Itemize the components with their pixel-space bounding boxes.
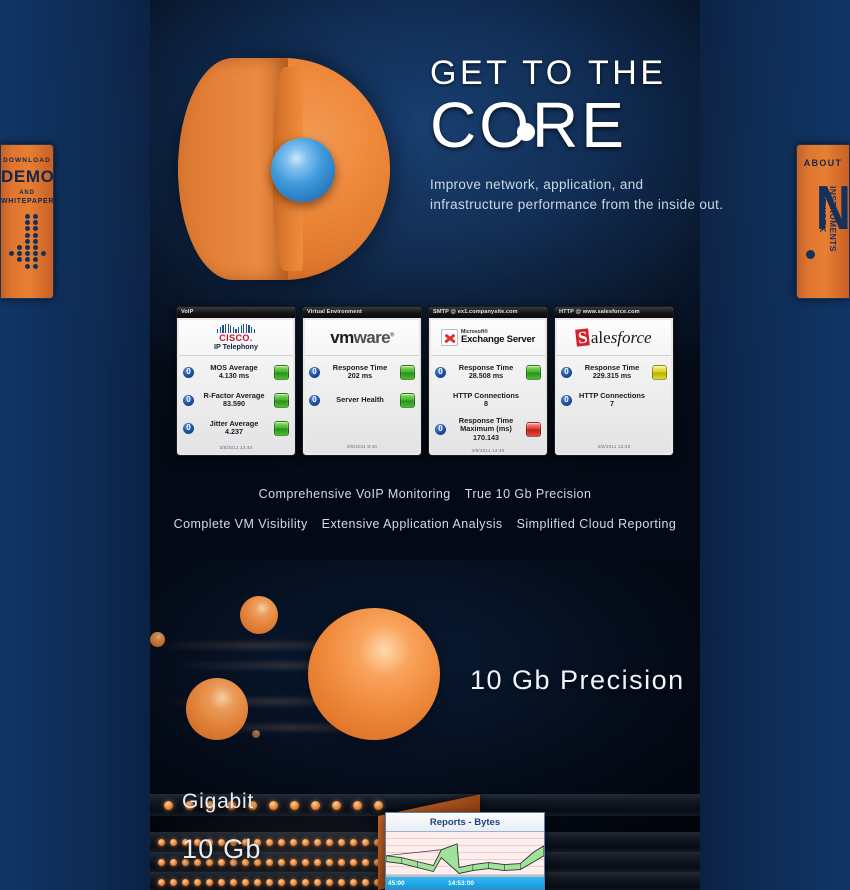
reports-card-title: Reports - Bytes bbox=[386, 813, 544, 832]
panel-body: CISCO.IP Telephony0MOS Average4.130 ms0R… bbox=[179, 320, 293, 454]
feature-item: Extensive Application Analysis bbox=[322, 517, 503, 531]
salesforce-logo-icon: Salesforce bbox=[576, 328, 651, 348]
panel-title-bar: SMTP @ ex1.companysite.com bbox=[429, 307, 547, 318]
rack-led-icon bbox=[182, 879, 189, 886]
feature-item: Complete VM Visibility bbox=[174, 517, 308, 531]
dashboard-panel[interactable]: VoIPCISCO.IP Telephony0MOS Average4.130 … bbox=[176, 306, 296, 456]
exchange-logo-icon: Microsoft®Exchange Server bbox=[441, 329, 535, 346]
panel-brand-logo: vmware® bbox=[305, 320, 419, 356]
metric-row: 0Server Health bbox=[309, 389, 415, 411]
status-badge-icon: 0 bbox=[183, 423, 194, 434]
rack-led-icon bbox=[206, 879, 213, 886]
rack-led-icon bbox=[230, 879, 237, 886]
rack-led-icon bbox=[290, 839, 297, 846]
precision-ball-dust bbox=[252, 730, 260, 738]
rack-led-icon bbox=[158, 839, 165, 846]
reports-bytes-card[interactable]: Reports - Bytes bbox=[385, 812, 545, 890]
hero-headline-line1: GET TO THE bbox=[430, 56, 730, 90]
logo-dot-icon bbox=[806, 250, 815, 259]
rack-led-icon bbox=[326, 879, 333, 886]
page-root: DOWNLOAD DEMO AND WHITEPAPERS ABOUT N NE… bbox=[0, 0, 850, 890]
axis-tick-1: 45:00 bbox=[388, 880, 405, 887]
rack-led-icon bbox=[314, 879, 321, 886]
precision-section: 10 Gb Precision bbox=[150, 590, 710, 780]
metric-row: 0Response Time Maximum (ms)170.143 bbox=[435, 417, 541, 442]
feature-row-2: Complete VM VisibilityExtensive Applicat… bbox=[0, 517, 850, 531]
rack-led-icon bbox=[350, 879, 357, 886]
precision-ball-big bbox=[308, 608, 440, 740]
rack-led-icon bbox=[338, 879, 345, 886]
metric-row: HTTP Connections8 bbox=[435, 389, 541, 411]
metric-led-icon bbox=[274, 393, 289, 408]
panel-body: Microsoft®Exchange Server0Response Time2… bbox=[431, 320, 545, 456]
rack-led-icon bbox=[278, 859, 285, 866]
panel-title-bar: VoIP bbox=[177, 307, 295, 318]
panel-brand-logo: Microsoft®Exchange Server bbox=[431, 320, 545, 356]
rack-led-icon bbox=[278, 839, 285, 846]
hero-subtext: Improve network, application, and infras… bbox=[430, 175, 730, 214]
status-badge-icon: 0 bbox=[435, 367, 446, 378]
dashboard-panel[interactable]: HTTP @ www.salesforce.comSalesforce0Resp… bbox=[554, 306, 674, 456]
metric-value: 202 ms bbox=[323, 372, 397, 380]
rack-led-icon bbox=[170, 879, 177, 886]
panel-title-bar: Virtual Environment bbox=[303, 307, 421, 318]
status-badge-placeholder bbox=[435, 395, 446, 406]
metric-led-icon bbox=[526, 422, 541, 437]
logo-word-network: NETWORK bbox=[818, 186, 828, 233]
rack-led-icon bbox=[290, 879, 297, 886]
about-tab[interactable]: ABOUT N NETWORK INSTRUMENTS bbox=[796, 144, 850, 299]
reports-chart-series bbox=[386, 832, 544, 878]
feature-item: Comprehensive VoIP Monitoring bbox=[259, 487, 451, 501]
rack-led-icon bbox=[350, 859, 357, 866]
metric-led-icon bbox=[274, 365, 289, 380]
reports-chart-plot bbox=[386, 832, 544, 879]
metric-row: 0Response Time202 ms bbox=[309, 361, 415, 383]
panel-timestamp: 3/8/2011 13:40 bbox=[557, 444, 671, 453]
rack-led-icon bbox=[290, 801, 299, 810]
panel-metrics: 0Response Time202 ms0Server Health bbox=[305, 356, 419, 444]
rack-led-icon bbox=[362, 839, 369, 846]
rack-led-icon bbox=[164, 801, 173, 810]
precision-label: 10 Gb Precision bbox=[470, 665, 685, 696]
rack-led-icon bbox=[269, 801, 278, 810]
rack-led-icon bbox=[314, 859, 321, 866]
exchange-wordmark: Exchange Server bbox=[461, 335, 535, 345]
exchange-mark-icon bbox=[441, 329, 458, 346]
rack-led-icon bbox=[266, 859, 273, 866]
feature-item: True 10 Gb Precision bbox=[465, 487, 592, 501]
status-badge-icon: 0 bbox=[309, 367, 320, 378]
rack-led-icon bbox=[170, 839, 177, 846]
panel-timestamp: 3/8/2011 8:40 bbox=[305, 444, 419, 453]
hero-text-block: GET TO THE CORE Improve network, applica… bbox=[430, 56, 730, 214]
rack-label-10gb: 10 Gb bbox=[182, 834, 262, 865]
metric-row: 0R-Factor Average83.590 bbox=[183, 389, 289, 411]
status-badge-icon: 0 bbox=[183, 395, 194, 406]
metric-value: 4.237 bbox=[197, 428, 271, 436]
rack-led-icon bbox=[332, 801, 341, 810]
about-tab-label: ABOUT bbox=[797, 158, 849, 168]
rack-led-icon bbox=[353, 801, 362, 810]
metric-row: 0Response Time28.508 ms bbox=[435, 361, 541, 383]
feature-list: Comprehensive VoIP MonitoringTrue 10 Gb … bbox=[0, 487, 850, 531]
hero-headline-line2: CORE bbox=[430, 93, 730, 157]
reports-chart-axis: 45:00 14:53:00 bbox=[386, 877, 544, 889]
network-instruments-logo-icon: N NETWORK INSTRUMENTS bbox=[797, 172, 850, 290]
rack-led-icon bbox=[326, 839, 333, 846]
rack-led-icon bbox=[218, 879, 225, 886]
rack-led-icon bbox=[170, 859, 177, 866]
download-tab-kicker: DOWNLOAD bbox=[1, 157, 53, 164]
feature-item: Simplified Cloud Reporting bbox=[517, 517, 677, 531]
metric-led-icon bbox=[526, 365, 541, 380]
metric-value: 28.508 ms bbox=[449, 372, 523, 380]
rack-led-icon bbox=[338, 859, 345, 866]
rack-led-icon bbox=[374, 801, 383, 810]
metric-label: Response Time Maximum (ms) bbox=[449, 417, 523, 434]
metric-value: 229.315 ms bbox=[575, 372, 649, 380]
rack-led-icon bbox=[266, 839, 273, 846]
rack-led-icon bbox=[290, 859, 297, 866]
panel-timestamp: 3/8/2011 13:40 bbox=[431, 448, 545, 456]
metric-led-icon bbox=[526, 393, 541, 408]
rack-led-icon bbox=[158, 879, 165, 886]
status-badge-icon: 0 bbox=[183, 367, 194, 378]
core-dot-icon bbox=[517, 123, 535, 141]
metric-row: 0HTTP Connections7 bbox=[561, 389, 667, 411]
cisco-product-name: IP Telephony bbox=[214, 343, 258, 350]
status-badge-icon: 0 bbox=[561, 367, 572, 378]
metric-label: Server Health bbox=[323, 396, 397, 404]
rack-label-gigabit: Gigabit bbox=[182, 792, 254, 814]
download-tab-subtitle: WHITEPAPERS bbox=[1, 198, 53, 205]
metric-row: 0MOS Average4.130 ms bbox=[183, 361, 289, 383]
axis-tick-2: 14:53:00 bbox=[448, 880, 474, 887]
panel-metrics: 0MOS Average4.130 ms0R-Factor Average83.… bbox=[179, 356, 293, 445]
status-badge-icon: 0 bbox=[561, 395, 572, 406]
metric-led-icon bbox=[274, 421, 289, 436]
panel-body: Salesforce0Response Time229.315 ms0HTTP … bbox=[557, 320, 671, 453]
rack-led-icon bbox=[242, 879, 249, 886]
feature-row-1: Comprehensive VoIP MonitoringTrue 10 Gb … bbox=[0, 487, 850, 501]
logo-word-instruments: INSTRUMENTS bbox=[828, 186, 838, 252]
rack-led-icon bbox=[158, 859, 165, 866]
vmware-logo-icon: vmware® bbox=[330, 328, 394, 348]
rack-led-icon bbox=[302, 859, 309, 866]
download-tab-and: AND bbox=[1, 190, 53, 196]
download-demo-tab[interactable]: DOWNLOAD DEMO AND WHITEPAPERS bbox=[0, 144, 54, 299]
precision-ball-mid bbox=[186, 678, 248, 740]
rack-led-icon bbox=[302, 879, 309, 886]
rack-led-icon bbox=[302, 839, 309, 846]
status-badge-icon: 0 bbox=[435, 424, 446, 435]
panel-metrics: 0Response Time28.508 msHTTP Connections8… bbox=[431, 356, 545, 448]
metric-value: 83.590 bbox=[197, 400, 271, 408]
salesforce-wordmark: alesforce bbox=[591, 328, 652, 348]
rack-led-icon bbox=[278, 879, 285, 886]
panel-metrics: 0Response Time229.315 ms0HTTP Connection… bbox=[557, 356, 671, 444]
precision-ball-small bbox=[240, 596, 278, 634]
rack-led-icon bbox=[326, 859, 333, 866]
panel-timestamp: 3/8/2011 13:40 bbox=[179, 445, 293, 454]
rack-led-icon bbox=[266, 879, 273, 886]
cisco-bars-icon bbox=[214, 324, 258, 333]
panel-title-bar: HTTP @ www.salesforce.com bbox=[555, 307, 673, 318]
precision-ball-tiny bbox=[150, 632, 165, 647]
dashboard-panel[interactable]: Virtual Environmentvmware®0Response Time… bbox=[302, 306, 422, 456]
rack-led-icon bbox=[311, 801, 320, 810]
hero-headline-line2-row: CORE bbox=[430, 93, 730, 159]
metric-value: 7 bbox=[575, 400, 649, 408]
core-inner-ball bbox=[271, 138, 335, 202]
rack-led-icon bbox=[254, 879, 261, 886]
core-sphere-graphic bbox=[178, 58, 390, 280]
panel-brand-logo: Salesforce bbox=[557, 320, 671, 356]
rack-led-icon bbox=[362, 859, 369, 866]
rack-led-icon bbox=[194, 879, 201, 886]
salesforce-s-mark: S bbox=[576, 328, 591, 346]
metric-led-icon bbox=[400, 365, 415, 380]
dashboard-panels: VoIPCISCO.IP Telephony0MOS Average4.130 … bbox=[176, 306, 674, 456]
metric-led-icon bbox=[400, 393, 415, 408]
panel-body: vmware®0Response Time202 ms0Server Healt… bbox=[305, 320, 419, 453]
dashboard-panel[interactable]: SMTP @ ex1.companysite.comMicrosoft®Exch… bbox=[428, 306, 548, 456]
metric-led-icon bbox=[652, 393, 667, 408]
cisco-logo-icon: CISCO.IP Telephony bbox=[214, 324, 258, 350]
metric-row: 0Jitter Average4.237 bbox=[183, 417, 289, 439]
down-arrow-icon bbox=[7, 214, 47, 270]
rack-led-icon bbox=[362, 879, 369, 886]
metric-value: 8 bbox=[449, 400, 523, 408]
metric-value: 170.143 bbox=[449, 434, 523, 442]
download-tab-title: DEMO bbox=[1, 167, 53, 187]
rack-led-icon bbox=[350, 839, 357, 846]
metric-row: 0Response Time229.315 ms bbox=[561, 361, 667, 383]
metric-led-icon bbox=[652, 365, 667, 380]
rack-section: Gigabit 10 Gb Reports - Bytes bbox=[150, 792, 700, 890]
metric-value: 4.130 ms bbox=[197, 372, 271, 380]
status-badge-icon: 0 bbox=[309, 395, 320, 406]
rack-led-icon bbox=[314, 839, 321, 846]
panel-brand-logo: CISCO.IP Telephony bbox=[179, 320, 293, 356]
background-edge-left bbox=[0, 0, 170, 890]
rack-led-icon bbox=[338, 839, 345, 846]
